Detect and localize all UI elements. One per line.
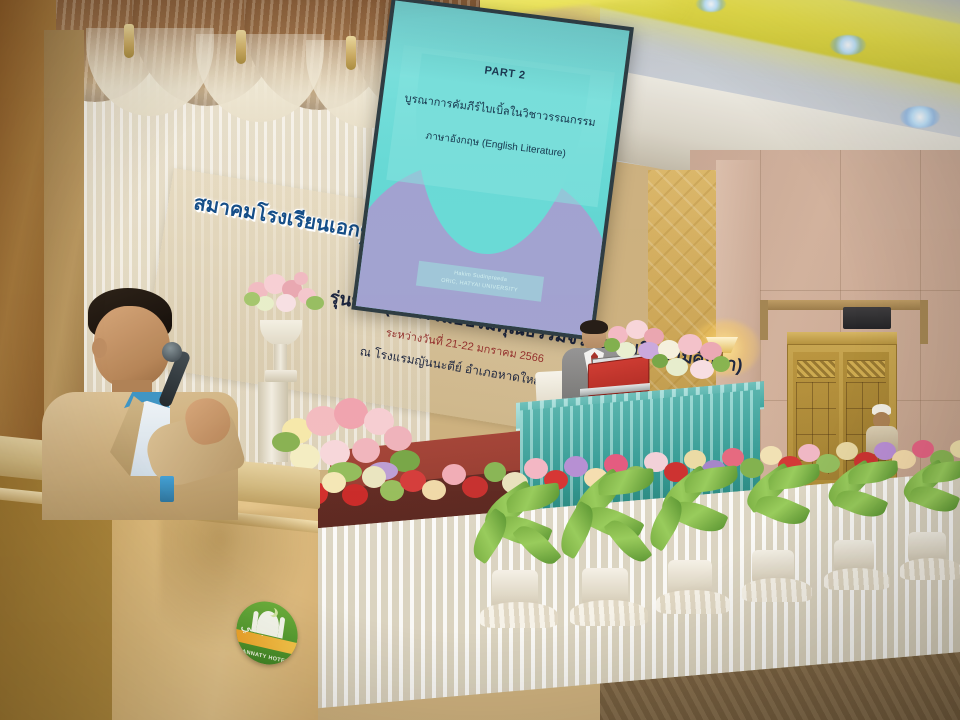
urn-bowl [260,320,302,346]
loudspeaker-icon [843,307,891,329]
door-post-left [760,300,768,340]
recessed-downlight [830,35,866,55]
potted-plant-row [300,470,960,720]
recessed-downlight [900,106,940,128]
table-bouquet-right [652,330,732,390]
urn-base [265,370,297,382]
speaker-badge [160,476,174,502]
speaker-ear [92,338,107,358]
urn-stem [274,344,287,372]
projected-slide: PART 2 บูรณาการคัมภีร์ไบเบิ้ลในวิชาวรรณก… [356,0,630,336]
photo-canvas: สมาคมโรงเรียนเอกชนสอนศาสนาอิสลาม โครงการ… [0,0,960,720]
podium-speaker [36,288,266,518]
door-post-right [920,300,928,344]
projection-screen: PART 2 บูรณาการคัมภีร์ไบเบิ้ลในวิชาวรรณก… [351,0,634,341]
